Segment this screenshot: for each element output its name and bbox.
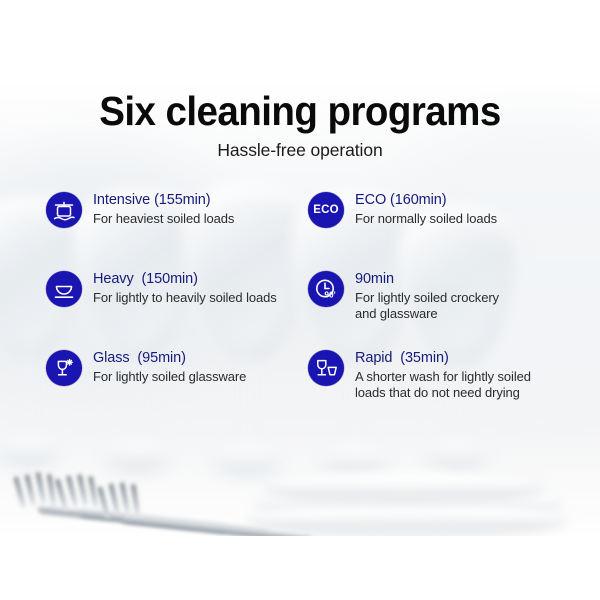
program-text: Heavy (150min) For lightly to heavily so… — [93, 269, 277, 306]
program-description: A shorter wash for lightly soiled loads … — [355, 369, 531, 401]
page-title: Six cleaning programs — [18, 88, 582, 134]
program-title: Heavy (150min) — [93, 270, 277, 288]
program-description-line: For lightly to heavily soiled loads — [93, 290, 277, 306]
program-text: Glass (95min) For lightly soiled glasswa… — [93, 348, 246, 385]
programs-grid: Intensive (155min) For heaviest soiled l… — [46, 190, 576, 427]
program-title: Rapid (35min) — [355, 349, 531, 367]
program-item-intensive: Intensive (155min) For heaviest soiled l… — [46, 190, 308, 269]
photo-top-fade — [0, 0, 600, 86]
program-text: Rapid (35min) A shorter wash for lightly… — [355, 348, 531, 401]
clock-icon: 90' — [308, 271, 344, 307]
program-title: 90min — [355, 270, 499, 288]
program-text: Intensive (155min) For heaviest soiled l… — [93, 190, 234, 227]
program-description: For heaviest soiled loads — [93, 211, 234, 227]
plate-shape — [248, 502, 566, 534]
program-text: 90min For lightly soiled crockery and gl… — [355, 269, 499, 322]
program-description-line: loads that do not need drying — [355, 385, 531, 401]
program-description-line: A shorter wash for lightly soiled — [355, 369, 531, 385]
program-description-line: For lightly soiled crockery — [355, 290, 499, 306]
program-description-line: and glassware — [355, 306, 499, 322]
svg-text:90': 90' — [324, 290, 335, 300]
eco-icon-label: ECO — [308, 192, 344, 228]
wine-glass-sparkle-icon — [46, 350, 82, 386]
program-item-90min: 90' 90min For lightly soiled crockery an… — [308, 269, 576, 348]
eco-icon: ECO — [308, 192, 344, 228]
program-item-glass: Glass (95min) For lightly soiled glasswa… — [46, 348, 308, 427]
two-glasses-icon — [308, 350, 344, 386]
promo-banner: Six cleaning programs Hassle-free operat… — [0, 0, 600, 600]
pot-icon — [46, 192, 82, 228]
program-description: For lightly soiled glassware — [93, 369, 246, 385]
bowl-icon — [46, 271, 82, 307]
program-text: ECO (160min) For normally soiled loads — [355, 190, 497, 227]
program-description: For lightly to heavily soiled loads — [93, 290, 277, 306]
program-description-line: For normally soiled loads — [355, 211, 497, 227]
program-title: ECO (160min) — [355, 191, 497, 209]
program-title: Intensive (155min) — [93, 191, 234, 209]
program-title: Glass (95min) — [93, 349, 246, 367]
program-item-eco: ECO ECO (160min) For normally soiled loa… — [308, 190, 576, 269]
plate-shape — [268, 472, 540, 500]
page-subtitle: Hassle-free operation — [0, 140, 600, 161]
program-description: For lightly soiled crockery and glasswar… — [355, 290, 499, 322]
program-item-heavy: Heavy (150min) For lightly to heavily so… — [46, 269, 308, 348]
headline-block: Six cleaning programs Hassle-free operat… — [0, 88, 600, 161]
program-description: For normally soiled loads — [355, 211, 497, 227]
program-item-rapid: Rapid (35min) A shorter wash for lightly… — [308, 348, 576, 427]
program-description-line: For lightly soiled glassware — [93, 369, 246, 385]
program-description-line: For heaviest soiled loads — [93, 211, 234, 227]
